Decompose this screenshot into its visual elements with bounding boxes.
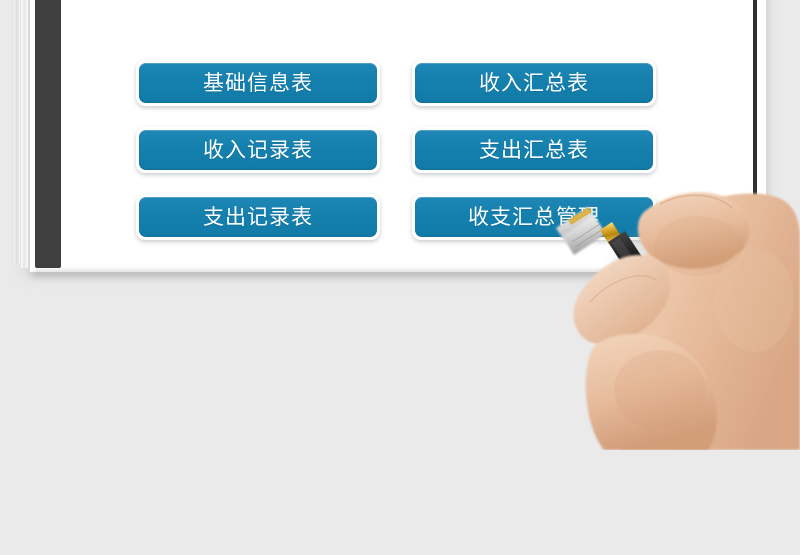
button-expense-summary-sheet[interactable]: 支出汇总表 — [412, 127, 656, 173]
button-label: 基础信息表 — [203, 73, 313, 94]
right-edge-rule — [753, 0, 757, 234]
button-balance-management[interactable]: 收支汇总管理 — [412, 194, 656, 240]
button-income-record-sheet[interactable]: 收入记录表 — [136, 127, 380, 173]
page-stack-edge-outer — [14, 0, 20, 264]
page-bottom-shadow — [34, 270, 764, 280]
screen-root: 基础信息表 收入汇总表 收入记录表 支出汇总表 支出记录表 收支汇总管 — [0, 0, 800, 555]
button-expense-record-sheet[interactable]: 支出记录表 — [136, 194, 380, 240]
button-face: 收入记录表 — [139, 130, 377, 170]
page-stack-edge-inner — [21, 0, 28, 268]
button-label: 支出汇总表 — [479, 140, 589, 161]
button-face: 收支汇总管理 — [415, 197, 653, 237]
sidebar-rail[interactable] — [35, 0, 61, 268]
page-background — [0, 282, 800, 555]
button-income-summary-sheet[interactable]: 收入汇总表 — [412, 60, 656, 106]
button-label: 收入记录表 — [203, 140, 313, 161]
button-label: 收入汇总表 — [479, 73, 589, 94]
button-label: 支出记录表 — [203, 207, 313, 228]
button-face: 支出汇总表 — [415, 130, 653, 170]
button-face: 基础信息表 — [139, 63, 377, 103]
button-face: 支出记录表 — [139, 197, 377, 237]
button-face: 收入汇总表 — [415, 63, 653, 103]
button-basic-info-sheet[interactable]: 基础信息表 — [136, 60, 380, 106]
navigation-button-grid: 基础信息表 收入汇总表 收入记录表 支出汇总表 支出记录表 收支汇总管 — [136, 60, 656, 240]
button-label: 收支汇总管理 — [468, 207, 600, 228]
